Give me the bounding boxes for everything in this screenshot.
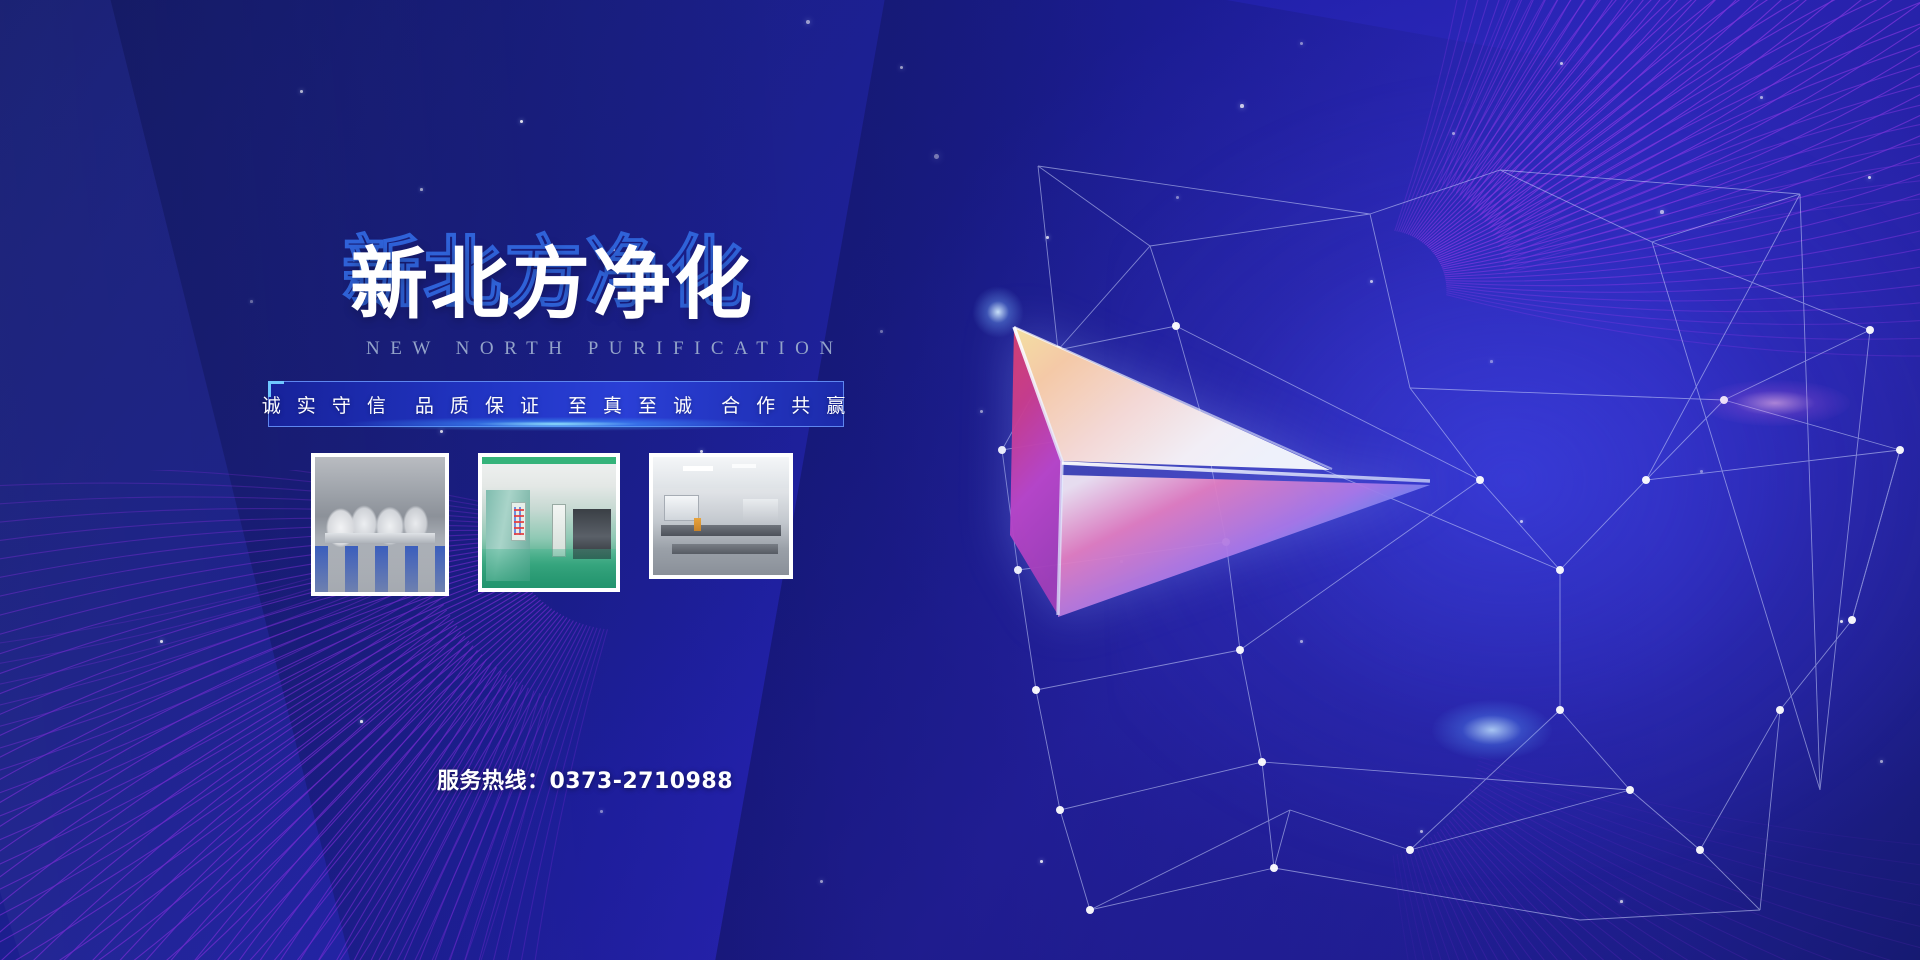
company-banner: 新北方净化 新北方净化 NEW NORTH PURIFICATION 诚 实 守…: [0, 0, 1920, 960]
ceiling-light-2: [732, 464, 756, 468]
mesh-pattern-top-right: [1342, 0, 1920, 391]
star-dot: [1560, 62, 1563, 65]
banner-content: 新北方净化 新北方净化 NEW NORTH PURIFICATION 诚 实 守…: [0, 0, 900, 960]
green-floor-shape: [482, 549, 616, 588]
star-dot: [1370, 280, 1373, 283]
star-dot: [1760, 96, 1763, 99]
lens-flare-bottom-right: [1432, 700, 1552, 760]
star-dot: [1868, 176, 1871, 179]
ceiling-light-1: [683, 466, 713, 471]
mesh-pattern-bottom-right: [1340, 700, 1920, 960]
photo-cleanroom-assembly-line[interactable]: [311, 453, 449, 596]
lab-bench-1: [661, 525, 781, 536]
slogan-bar: 诚 实 守 信 品 质 保 证 至 真 至 诚 合 作 共 赢: [268, 381, 844, 427]
star-dot: [1420, 830, 1423, 833]
company-title: 新北方净化 新北方净化: [350, 246, 770, 346]
workbench-shape: [325, 533, 434, 544]
star-dot: [1700, 470, 1703, 473]
3d-triangle-arrow-graphic: [1000, 285, 1430, 665]
wireframe-constellation: [940, 150, 1920, 940]
star-dot: [1452, 132, 1455, 135]
star-dot: [1120, 560, 1123, 563]
star-dot: [1620, 900, 1623, 903]
photo-image-3: [653, 457, 789, 575]
star-dot: [1040, 860, 1043, 863]
star-dot: [1490, 360, 1493, 363]
star-dot: [1046, 236, 1049, 239]
star-dot: [1240, 104, 1244, 108]
slogan-text: 诚 实 守 信 品 质 保 证 至 真 至 诚 合 作 共 赢: [262, 391, 850, 418]
right-glow: [1114, 77, 1920, 883]
photo-image-1: [315, 457, 445, 592]
star-dot: [980, 410, 983, 413]
slogan-glow: [346, 417, 766, 431]
lens-flare-right: [1700, 380, 1850, 426]
photo-image-2: [482, 457, 616, 588]
star-dot: [1300, 640, 1303, 643]
photo-laboratory-clean-room[interactable]: [649, 453, 793, 579]
star-dot: [1300, 42, 1303, 45]
company-title-text: 新北方净化: [350, 246, 755, 324]
star-dot: [900, 66, 903, 69]
star-dot: [1840, 620, 1843, 623]
window-shape: [664, 495, 699, 521]
green-ceiling-strip: [482, 457, 616, 464]
lab-bench-2: [672, 544, 778, 553]
lens-flare-left: [972, 286, 1024, 338]
cabinet-shape: [743, 499, 778, 527]
company-subtitle-english: NEW NORTH PURIFICATION: [366, 338, 844, 360]
service-hotline: 服务热线：0373-2710988: [437, 763, 733, 795]
star-dot: [1520, 520, 1523, 523]
star-dot: [1880, 760, 1883, 763]
star-dot: [1660, 210, 1664, 214]
control-panel-shape: [511, 502, 526, 541]
photo-printing-press-workshop[interactable]: [478, 453, 620, 592]
ceiling-grid-shape: [653, 457, 789, 488]
star-dot: [1176, 196, 1179, 199]
star-dot: [934, 154, 939, 159]
bottle-shape: [694, 518, 701, 531]
photo-gallery: [311, 453, 793, 596]
